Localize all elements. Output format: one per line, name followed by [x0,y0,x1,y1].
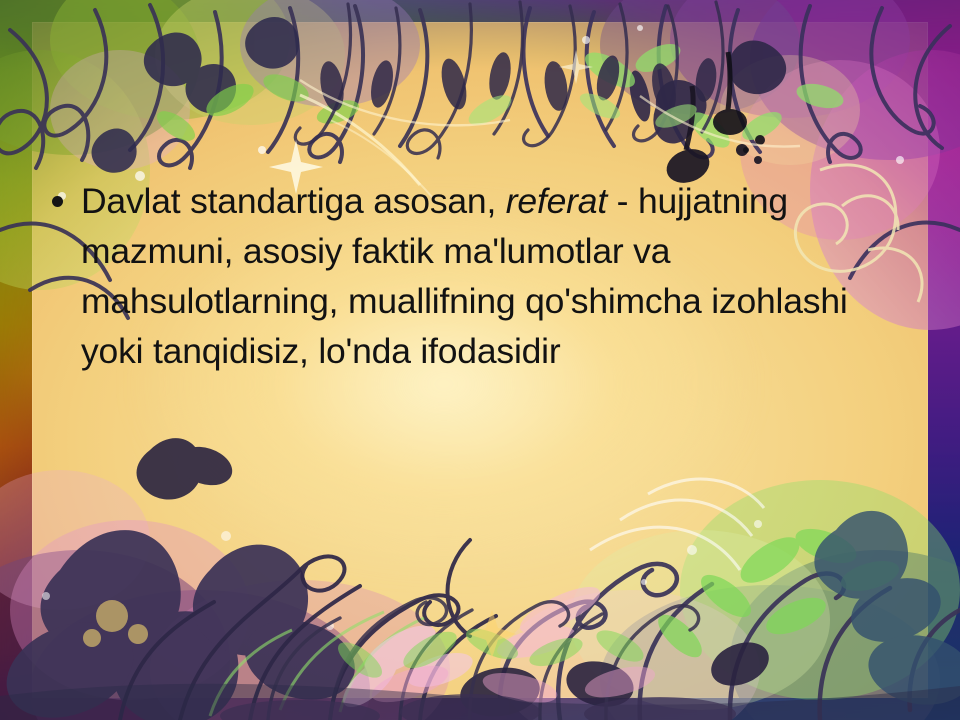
bullet-dot-icon [52,196,63,207]
presentation-slide: Davlat standartiga asosan, referat - huj… [0,0,960,720]
bullet-paragraph: Davlat standartiga asosan, referat - huj… [81,176,902,376]
bullet-segment-italic-referat: referat [506,181,607,221]
bullet-segment-1: Davlat standartiga asosan, [81,181,506,221]
bullet-list-item: Davlat standartiga asosan, referat - huj… [52,176,902,376]
slide-content-placeholder: Davlat standartiga asosan, referat - huj… [52,176,902,376]
